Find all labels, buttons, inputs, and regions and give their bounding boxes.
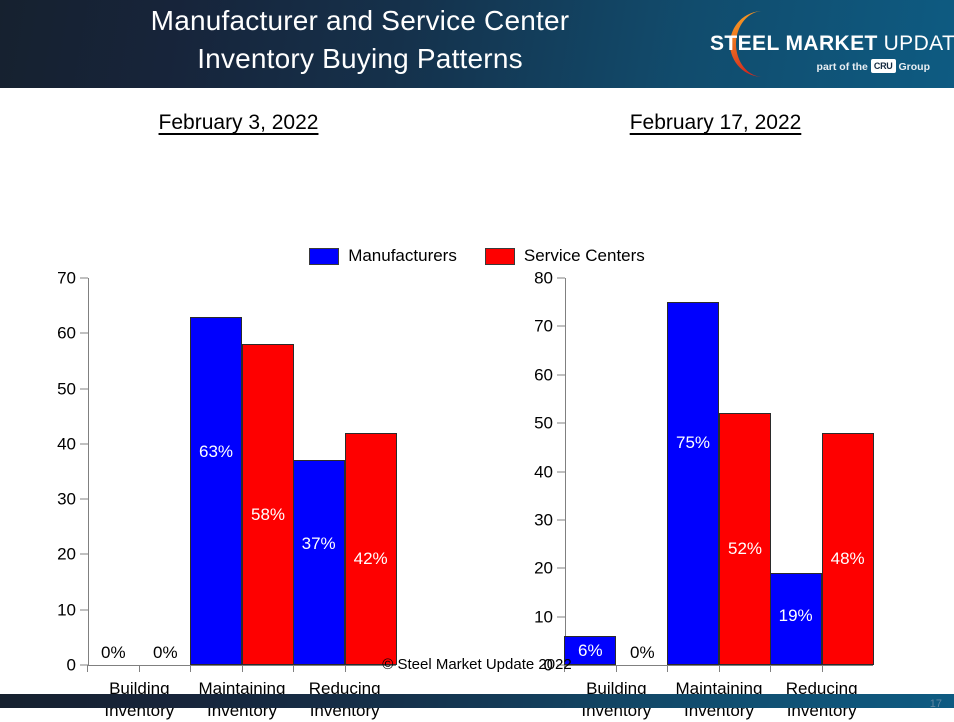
y-axis-tick-mark	[557, 519, 565, 520]
logo-subtitle: part of theCRUGroup	[817, 60, 930, 74]
y-axis-tick-mark	[557, 278, 565, 279]
chart-title-left: February 3, 2022	[0, 110, 477, 136]
chart-panel-february-17: February 17, 2022 01020304050607080Build…	[477, 88, 954, 648]
bar-maintaining-inventory-service-centers: 58%	[242, 344, 294, 665]
bar-maintaining-inventory-manufacturers: 63%	[190, 317, 242, 665]
bar-reducing-inventory-service-centers: 48%	[822, 433, 874, 665]
plot-area-left: 010203040506070BuildingInventoryMaintain…	[0, 278, 477, 668]
y-axis-tick-label: 20	[16, 546, 76, 563]
logo-sub-prefix: part of the	[817, 61, 868, 73]
bar-group-container: 0%0%63%58%37%42%	[88, 278, 396, 665]
y-axis-tick-mark	[80, 609, 88, 610]
bar-reducing-inventory-service-centers: 42%	[345, 433, 397, 665]
y-axis-tick-mark	[80, 443, 88, 444]
y-axis-tick-mark	[557, 568, 565, 569]
bar-maintaining-inventory-manufacturers: 75%	[667, 302, 719, 665]
y-axis-tick-label: 50	[493, 415, 553, 432]
charts-area: Manufacturers Service Centers February 3…	[0, 88, 954, 694]
bar-maintaining-inventory-service-centers: 52%	[719, 413, 771, 665]
y-axis-tick-label: 10	[16, 601, 76, 618]
bar-value-label: 52%	[720, 540, 770, 558]
y-axis-tick-label: 40	[16, 435, 76, 452]
y-axis-tick-mark	[80, 333, 88, 334]
bar-reducing-inventory-manufacturers: 37%	[293, 460, 345, 665]
y-axis-tick-label: 80	[493, 270, 553, 287]
steel-market-update-logo: STEEL MARKET UPDATE part of theCRUGroup	[700, 6, 946, 80]
y-axis-left: 010203040506070	[0, 278, 90, 668]
y-axis-tick-mark	[80, 388, 88, 389]
y-axis-tick-label: 30	[493, 511, 553, 528]
logo-word-update: UPDATE	[884, 32, 954, 55]
y-axis-tick-label: 70	[16, 270, 76, 287]
y-axis-tick-label: 30	[16, 491, 76, 508]
y-axis-right: 01020304050607080	[477, 278, 567, 668]
bar-value-label: 58%	[243, 506, 293, 524]
bar-value-label: 37%	[294, 535, 344, 553]
y-axis-tick-mark	[80, 278, 88, 279]
y-axis-tick-label: 70	[493, 318, 553, 335]
y-axis-tick-label: 60	[16, 325, 76, 342]
y-axis-tick-label: 40	[493, 463, 553, 480]
bar-value-label: 75%	[668, 434, 718, 452]
y-axis-tick-mark	[557, 423, 565, 424]
bar-group-container: 6%0%75%52%19%48%	[565, 278, 873, 665]
page-title: Manufacturer and Service Center Inventor…	[60, 2, 660, 78]
y-axis-tick-mark	[557, 326, 565, 327]
chart-title-right: February 17, 2022	[477, 110, 954, 136]
page-title-line-2: Inventory Buying Patterns	[60, 40, 660, 78]
logo-word-steel: STEEL	[710, 32, 780, 55]
plot-area-right: 01020304050607080BuildingInventoryMainta…	[477, 278, 954, 668]
page-number: 17	[930, 698, 942, 710]
y-axis-tick-label: 50	[16, 380, 76, 397]
page-title-line-1: Manufacturer and Service Center	[151, 5, 570, 36]
footer-bar: 17	[0, 694, 954, 708]
y-axis-tick-mark	[80, 499, 88, 500]
chart-panel-february-3: February 3, 2022 010203040506070Building…	[0, 88, 477, 648]
y-axis-tick-mark	[557, 374, 565, 375]
bar-value-label: 63%	[191, 443, 241, 461]
y-axis-tick-label: 10	[493, 608, 553, 625]
y-axis-tick-mark	[557, 616, 565, 617]
y-axis-tick-label: 60	[493, 366, 553, 383]
bar-value-label: 42%	[346, 550, 396, 568]
y-axis-tick-mark	[80, 554, 88, 555]
cru-badge-icon: CRU	[871, 59, 896, 73]
bar-value-label: 19%	[771, 607, 821, 625]
bar-value-label: 48%	[823, 550, 873, 568]
copyright-text: © Steel Market Update 2022	[0, 655, 954, 675]
logo-sub-suffix: Group	[899, 61, 931, 73]
bar-reducing-inventory-manufacturers: 19%	[770, 573, 822, 665]
header-banner: Manufacturer and Service Center Inventor…	[0, 0, 954, 88]
logo-wordmark: STEEL MARKET UPDATE	[710, 32, 946, 56]
y-axis-tick-mark	[557, 471, 565, 472]
y-axis-tick-label: 20	[493, 560, 553, 577]
logo-word-market: MARKET	[786, 32, 878, 55]
